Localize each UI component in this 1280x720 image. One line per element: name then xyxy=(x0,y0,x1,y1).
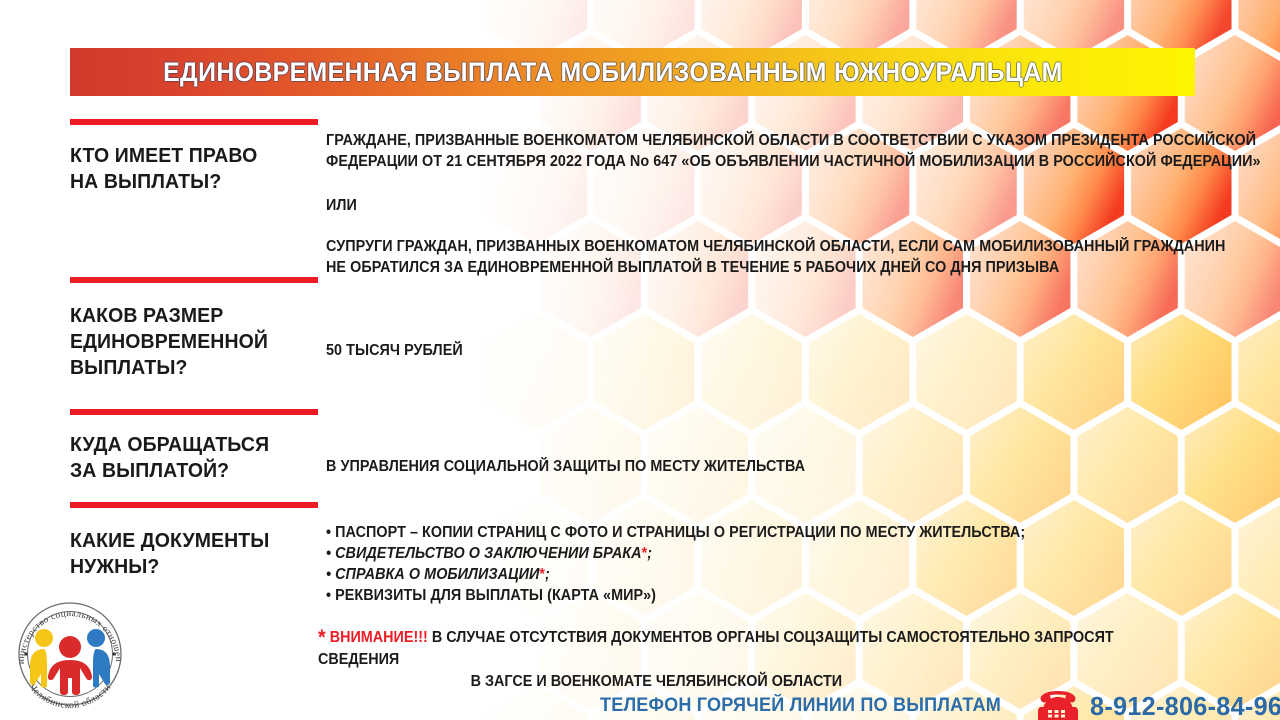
required-asterisk-icon: * xyxy=(539,566,545,583)
heading-where-to-apply: КУДА ОБРАЩАТЬСЯЗА ВЫПЛАТОЙ? xyxy=(70,432,309,484)
document-item: • СВИДЕТЕЛЬСТВО О ЗАКЛЮЧЕНИИ БРАКА*; xyxy=(326,543,1025,564)
document-item: • СПРАВКА О МОБИЛИЗАЦИИ*; xyxy=(326,564,1025,585)
warning-asterisk-icon: * xyxy=(318,626,326,649)
poster: ЕДИНОВРЕМЕННАЯ ВЫПЛАТА МОБИЛИЗОВАННЫМ ЮЖ… xyxy=(0,0,1280,720)
hotline-footer: ТЕЛЕФОН ГОРЯЧЕЙ ЛИНИИ ПО ВЫПЛАТАМ 8-912-… xyxy=(600,686,1280,720)
documents-list: • ПАСПОРТ – КОПИИ СТРАНИЦ С ФОТО И СТРАН… xyxy=(326,522,1025,606)
title-banner: ЕДИНОВРЕМЕННАЯ ВЫПЛАТА МОБИЛИЗОВАННЫМ ЮЖ… xyxy=(70,48,1195,96)
section-divider xyxy=(70,119,318,125)
content-area: КТО ИМЕЕТ ПРАВОНА ВЫПЛАТЫ? ГРАЖДАНЕ, ПРИ… xyxy=(0,0,1280,720)
page-title: ЕДИНОВРЕМЕННАЯ ВЫПЛАТА МОБИЛИЗОВАННЫМ ЮЖ… xyxy=(163,57,1063,88)
heading-required-documents: КАКИЕ ДОКУМЕНТЫНУЖНЫ? xyxy=(70,528,309,580)
section-divider xyxy=(70,502,318,508)
section-divider xyxy=(70,277,318,283)
eligibility-paragraph-2: СУПРУГИ ГРАЖДАН, ПРИЗВАННЫХ ВОЕНКОМАТОМ … xyxy=(326,236,1225,278)
warning-note: * ВНИМАНИЕ!!! В СЛУЧАЕ ОТСУТСТВИЯ ДОКУМЕ… xyxy=(318,627,1164,693)
document-item: • ПАСПОРТ – КОПИИ СТРАНИЦ С ФОТО И СТРАН… xyxy=(326,522,1025,543)
payment-amount-value: 50 ТЫСЯЧ РУБЛЕЙ xyxy=(326,340,463,361)
document-item: • РЕКВИЗИТЫ ДЛЯ ВЫПЛАТЫ (КАРТА «МИР») xyxy=(326,585,1025,606)
heading-who-is-eligible: КТО ИМЕЕТ ПРАВОНА ВЫПЛАТЫ? xyxy=(70,143,309,195)
warning-line-1: В СЛУЧАЕ ОТСУТСТВИЯ ДОКУМЕНТОВ ОРГАНЫ СО… xyxy=(318,629,1114,668)
where-to-apply-value: В УПРАВЛЕНИЯ СОЦИАЛЬНОЙ ЗАЩИТЫ ПО МЕСТУ … xyxy=(326,456,805,477)
required-asterisk-icon: * xyxy=(642,545,648,562)
eligibility-or: ИЛИ xyxy=(326,195,357,216)
hotline-phone-number: 8-912-806-84-96 xyxy=(1090,691,1280,720)
hotline-label: ТЕЛЕФОН ГОРЯЧЕЙ ЛИНИИ ПО ВЫПЛАТАМ xyxy=(600,695,1001,717)
warning-attention-label: ВНИМАНИЕ!!! xyxy=(330,629,428,646)
eligibility-paragraph-1: ГРАЖДАНЕ, ПРИЗВАННЫЕ ВОЕНКОМАТОМ ЧЕЛЯБИН… xyxy=(326,130,1261,172)
logo-figures xyxy=(30,629,110,695)
ministry-logo: Министерство социальных отношений Челяби… xyxy=(8,592,132,716)
section-divider xyxy=(70,409,318,415)
telephone-icon xyxy=(1036,686,1080,720)
heading-payment-amount: КАКОВ РАЗМЕРЕДИНОВРЕМЕННОЙВЫПЛАТЫ? xyxy=(70,303,309,381)
